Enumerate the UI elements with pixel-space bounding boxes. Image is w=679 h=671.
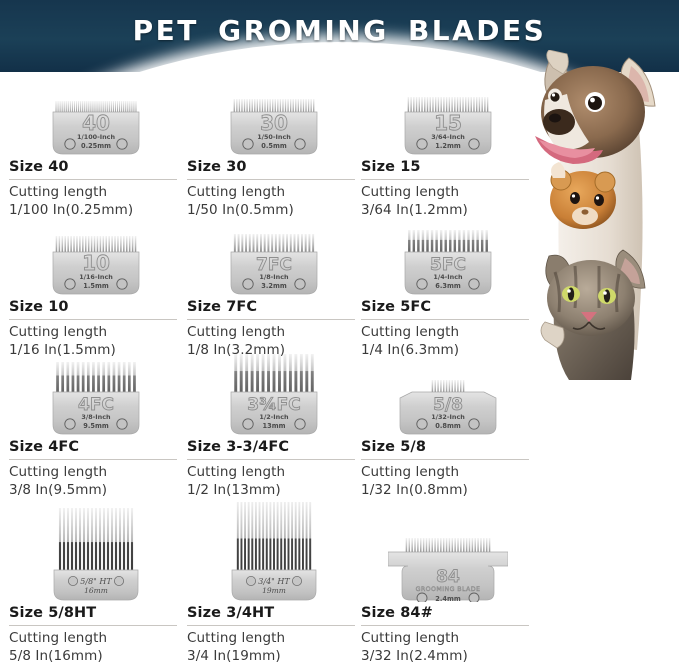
blade-size-label: Size 84# bbox=[360, 604, 536, 622]
blade-grid: 401/100-Inch0.25mmSize 40Cutting length1… bbox=[0, 72, 679, 671]
svg-text:5FC: 5FC bbox=[430, 255, 466, 275]
blade-card[interactable]: 4FC3/8-Inch9.5mmSize 4FCCutting length3/… bbox=[8, 358, 184, 500]
blade-image: 101/16-Inch1.5mm bbox=[8, 218, 184, 296]
svg-text:1/2-Inch: 1/2-Inch bbox=[259, 413, 289, 421]
svg-text:3/8-Inch: 3/8-Inch bbox=[81, 413, 111, 421]
svg-text:16mm: 16mm bbox=[84, 586, 108, 595]
svg-text:40: 40 bbox=[82, 111, 110, 135]
blade-image: 84GROOMING BLADE2.4mm bbox=[360, 506, 536, 602]
svg-text:1/8-Inch: 1/8-Inch bbox=[259, 273, 289, 281]
card-divider bbox=[187, 625, 355, 626]
cutting-length-value: 1/2 In(13mm) bbox=[186, 482, 362, 500]
svg-text:7FC: 7FC bbox=[256, 255, 292, 275]
blade-size-label: Size 10 bbox=[8, 298, 184, 316]
blade-card[interactable]: 5/81/32-Inch0.8mmSize 5/8Cutting length1… bbox=[360, 358, 536, 500]
svg-text:15: 15 bbox=[434, 111, 462, 135]
cutting-length-value: 3/32 In(2.4mm) bbox=[360, 648, 536, 666]
svg-text:3/4" HT: 3/4" HT bbox=[258, 577, 290, 586]
blade-size-label: Size 30 bbox=[186, 158, 362, 176]
cutting-length-label: Cutting length bbox=[8, 464, 184, 482]
svg-text:30: 30 bbox=[260, 111, 288, 135]
card-divider bbox=[9, 319, 177, 320]
card-divider bbox=[9, 179, 177, 180]
product-infographic: PET GROMING BLADES bbox=[0, 0, 679, 671]
svg-text:1/32-Inch: 1/32-Inch bbox=[431, 413, 465, 421]
blade-size-label: Size 40 bbox=[8, 158, 184, 176]
card-divider bbox=[361, 459, 529, 460]
card-divider bbox=[361, 625, 529, 626]
card-divider bbox=[361, 319, 529, 320]
blade-image: 5/81/32-Inch0.8mm bbox=[360, 358, 536, 436]
blade-card[interactable]: 3¾FC1/2-Inch13mmSize 3-3/4FCCutting leng… bbox=[186, 358, 362, 500]
blade-size-label: Size 5/8HT bbox=[8, 604, 184, 622]
svg-text:0.5mm: 0.5mm bbox=[261, 142, 287, 150]
svg-text:4FC: 4FC bbox=[78, 395, 114, 415]
page-title: PET GROMING BLADES bbox=[0, 14, 679, 47]
card-divider bbox=[361, 179, 529, 180]
card-divider bbox=[9, 459, 177, 460]
card-divider bbox=[187, 179, 355, 180]
svg-text:9.5mm: 9.5mm bbox=[83, 422, 109, 430]
blade-size-label: Size 7FC bbox=[186, 298, 362, 316]
blade-image: 401/100-Inch0.25mm bbox=[8, 78, 184, 156]
blade-image: 5FC1/4-Inch6.3mm bbox=[360, 218, 536, 296]
cutting-length-label: Cutting length bbox=[186, 464, 362, 482]
blade-size-label: Size 5/8 bbox=[360, 438, 536, 456]
svg-text:6.3mm: 6.3mm bbox=[435, 282, 461, 290]
blade-card[interactable]: 3/4" HT19mmSize 3/4HTCutting length3/4 I… bbox=[186, 506, 362, 666]
svg-text:0.25mm: 0.25mm bbox=[81, 142, 111, 150]
card-divider bbox=[187, 319, 355, 320]
svg-text:0.8mm: 0.8mm bbox=[435, 422, 461, 430]
blade-size-label: Size 3/4HT bbox=[186, 604, 362, 622]
svg-text:3¾FC: 3¾FC bbox=[247, 395, 301, 415]
blade-image: 5/8" HT16mm bbox=[8, 506, 184, 602]
svg-text:5/8" HT: 5/8" HT bbox=[80, 577, 112, 586]
blade-image: 4FC3/8-Inch9.5mm bbox=[8, 358, 184, 436]
svg-text:1/4-Inch: 1/4-Inch bbox=[433, 273, 463, 281]
svg-text:10: 10 bbox=[82, 251, 110, 275]
blade-image: 301/50-Inch0.5mm bbox=[186, 78, 362, 156]
cutting-length-value: 1/32 In(0.8mm) bbox=[360, 482, 536, 500]
cutting-length-value: 5/8 In(16mm) bbox=[8, 648, 184, 666]
svg-text:GROOMING BLADE: GROOMING BLADE bbox=[416, 586, 481, 593]
svg-text:84: 84 bbox=[436, 567, 460, 587]
blade-size-label: Size 4FC bbox=[8, 438, 184, 456]
svg-text:3/64-Inch: 3/64-Inch bbox=[431, 133, 465, 141]
svg-text:19mm: 19mm bbox=[262, 586, 286, 595]
svg-text:1/50-Inch: 1/50-Inch bbox=[257, 133, 291, 141]
blade-image: 7FC1/8-Inch3.2mm bbox=[186, 218, 362, 296]
cutting-length-value: 3/4 In(19mm) bbox=[186, 648, 362, 666]
blade-image: 3¾FC1/2-Inch13mm bbox=[186, 358, 362, 436]
svg-text:1.5mm: 1.5mm bbox=[83, 282, 109, 290]
svg-text:3.2mm: 3.2mm bbox=[261, 282, 287, 290]
cutting-length-label: Cutting length bbox=[360, 630, 536, 648]
blade-image: 153/64-Inch1.2mm bbox=[360, 78, 536, 156]
card-divider bbox=[187, 459, 355, 460]
blade-size-label: Size 5FC bbox=[360, 298, 536, 316]
blade-size-label: Size 3-3/4FC bbox=[186, 438, 362, 456]
blade-card[interactable]: 5/8" HT16mmSize 5/8HTCutting length5/8 I… bbox=[8, 506, 184, 666]
card-divider bbox=[9, 625, 177, 626]
blade-card[interactable]: 84GROOMING BLADE2.4mmSize 84#Cutting len… bbox=[360, 506, 536, 666]
svg-text:2.4mm: 2.4mm bbox=[435, 595, 461, 602]
blade-image: 3/4" HT19mm bbox=[186, 506, 362, 602]
cutting-length-label: Cutting length bbox=[360, 464, 536, 482]
cutting-length-label: Cutting length bbox=[186, 630, 362, 648]
svg-text:5/8: 5/8 bbox=[433, 395, 463, 415]
svg-text:1/16-Inch: 1/16-Inch bbox=[79, 273, 113, 281]
cutting-length-label: Cutting length bbox=[8, 630, 184, 648]
svg-text:1/100-Inch: 1/100-Inch bbox=[77, 133, 115, 141]
svg-text:1.2mm: 1.2mm bbox=[435, 142, 461, 150]
cutting-length-value: 3/8 In(9.5mm) bbox=[8, 482, 184, 500]
blade-size-label: Size 15 bbox=[360, 158, 536, 176]
svg-text:13mm: 13mm bbox=[263, 422, 286, 430]
